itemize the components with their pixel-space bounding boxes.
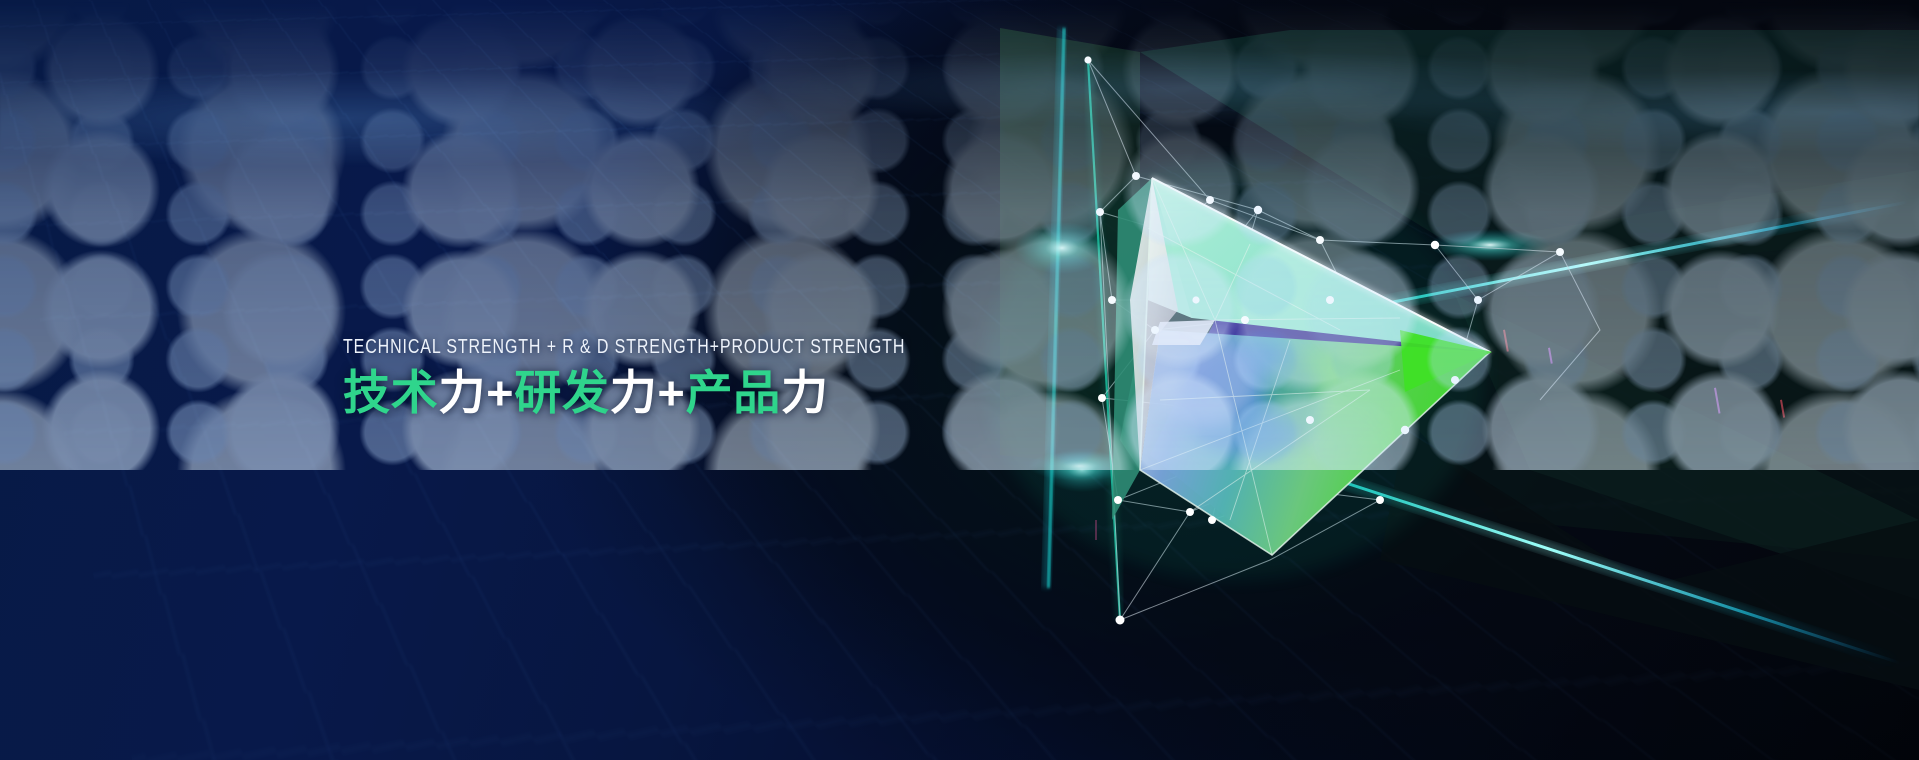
title-part-2: 力+ [438,366,514,419]
title-part-1: 技术 [343,366,438,419]
title-part-3: 研发 [514,366,609,419]
title-part-4: 力+ [610,366,686,419]
hero-banner: TECHNICAL STRENGTH + R & D STRENGTH+PROD… [0,0,1919,760]
headline-title: 技术力+研发力+产品力 [343,364,1063,421]
headline-block: TECHNICAL STRENGTH + R & D STRENGTH+PROD… [343,336,1063,421]
title-part-6: 力 [781,366,829,419]
title-part-5: 产品 [686,366,781,419]
headline-eyebrow: TECHNICAL STRENGTH + R & D STRENGTH+PROD… [343,336,919,359]
